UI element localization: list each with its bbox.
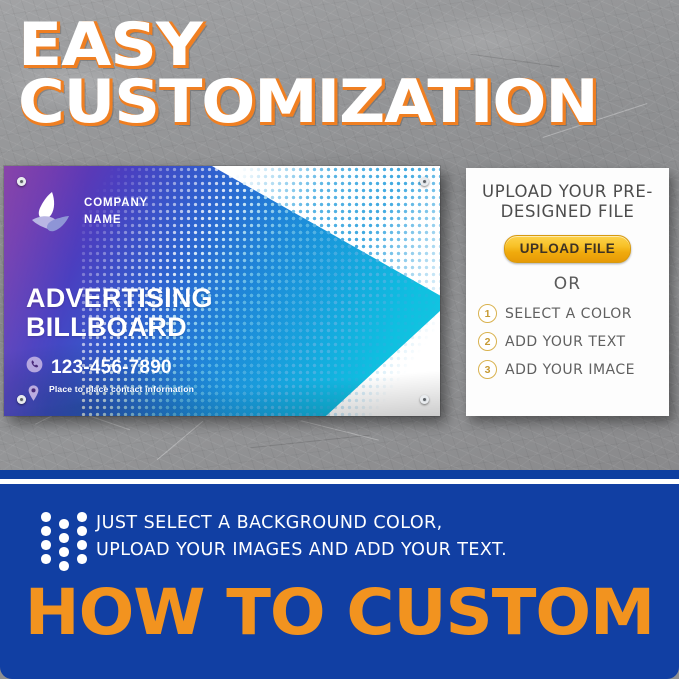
step-label: ADD YOUR TEXT <box>505 334 626 350</box>
promo-image: EASY CUSTOMIZATION COMPANY NAME ADVERTIS… <box>0 0 679 679</box>
steps-list: 1 SELECT A COLOR 2 ADD YOUR TEXT 3 ADD Y… <box>478 304 669 379</box>
contact-phone-row: 123-456-7890 <box>26 356 194 379</box>
footer-tagline: JUST SELECT A BACKGROUND COLOR, UPLOAD Y… <box>96 510 507 563</box>
grommet-top-left <box>17 177 26 186</box>
step-label: SELECT A COLOR <box>505 306 632 322</box>
company-line-1: COMPANY <box>84 195 148 212</box>
tagline-line-1: JUST SELECT A BACKGROUND COLOR, <box>96 510 507 537</box>
headline-line-1: EASY <box>18 18 608 73</box>
step-number: 1 <box>478 304 497 323</box>
list-item[interactable]: 1 SELECT A COLOR <box>478 304 669 323</box>
list-item[interactable]: 3 ADD YOUR IMACE <box>478 360 669 379</box>
list-item[interactable]: 2 ADD YOUR TEXT <box>478 332 669 351</box>
card-title: UPLOAD YOUR PRE-DESIGNED FILE <box>472 182 663 222</box>
swoosh-logo-icon <box>28 190 74 234</box>
grommet-bottom-right <box>420 395 429 404</box>
tagline-line-2: UPLOAD YOUR IMAGES AND ADD YOUR TEXT. <box>96 537 507 564</box>
grommet-top-right <box>420 177 429 186</box>
banner-contact: 123-456-7890 Place to place contact info… <box>26 356 194 408</box>
step-label: ADD YOUR IMACE <box>505 362 635 378</box>
banner-logo-row: COMPANY NAME <box>28 190 148 234</box>
location-pin-icon <box>26 384 41 408</box>
page-title: EASY CUSTOMIZATION <box>18 18 565 130</box>
upload-button-wrap: UPLOAD FILE <box>466 235 669 263</box>
instructions-card: UPLOAD YOUR PRE-DESIGNED FILE UPLOAD FIL… <box>466 168 669 416</box>
banner-mockup: COMPANY NAME ADVERTISING BILLBOARD 123-4… <box>4 166 440 416</box>
blue-accent-bar <box>0 470 679 479</box>
scratch <box>157 421 204 460</box>
headline-line-2: CUSTOMIZATION <box>18 75 597 130</box>
or-label: OR <box>466 274 669 294</box>
footer-panel: JUST SELECT A BACKGROUND COLOR, UPLOAD Y… <box>0 484 679 679</box>
banner-title-line-2: BILLBOARD <box>26 313 213 342</box>
company-line-2: NAME <box>84 212 148 229</box>
contact-address-row: Place to place contact information <box>26 384 194 408</box>
upload-file-button[interactable]: UPLOAD FILE <box>504 235 632 263</box>
step-number: 3 <box>478 360 497 379</box>
footer-headline: HOW TO CUSTOM <box>0 576 679 649</box>
step-number: 2 <box>478 332 497 351</box>
phone-icon <box>26 356 43 379</box>
phone-number: 123-456-7890 <box>51 357 172 379</box>
address-text: Place to place contact information <box>49 384 194 395</box>
banner-title: ADVERTISING BILLBOARD <box>26 284 213 341</box>
dot-grid-icon <box>41 512 87 576</box>
banner-title-line-1: ADVERTISING <box>26 284 213 313</box>
grommet-bottom-left <box>17 395 26 404</box>
scratch <box>301 420 379 440</box>
scratch <box>250 435 369 449</box>
company-name: COMPANY NAME <box>84 195 148 228</box>
